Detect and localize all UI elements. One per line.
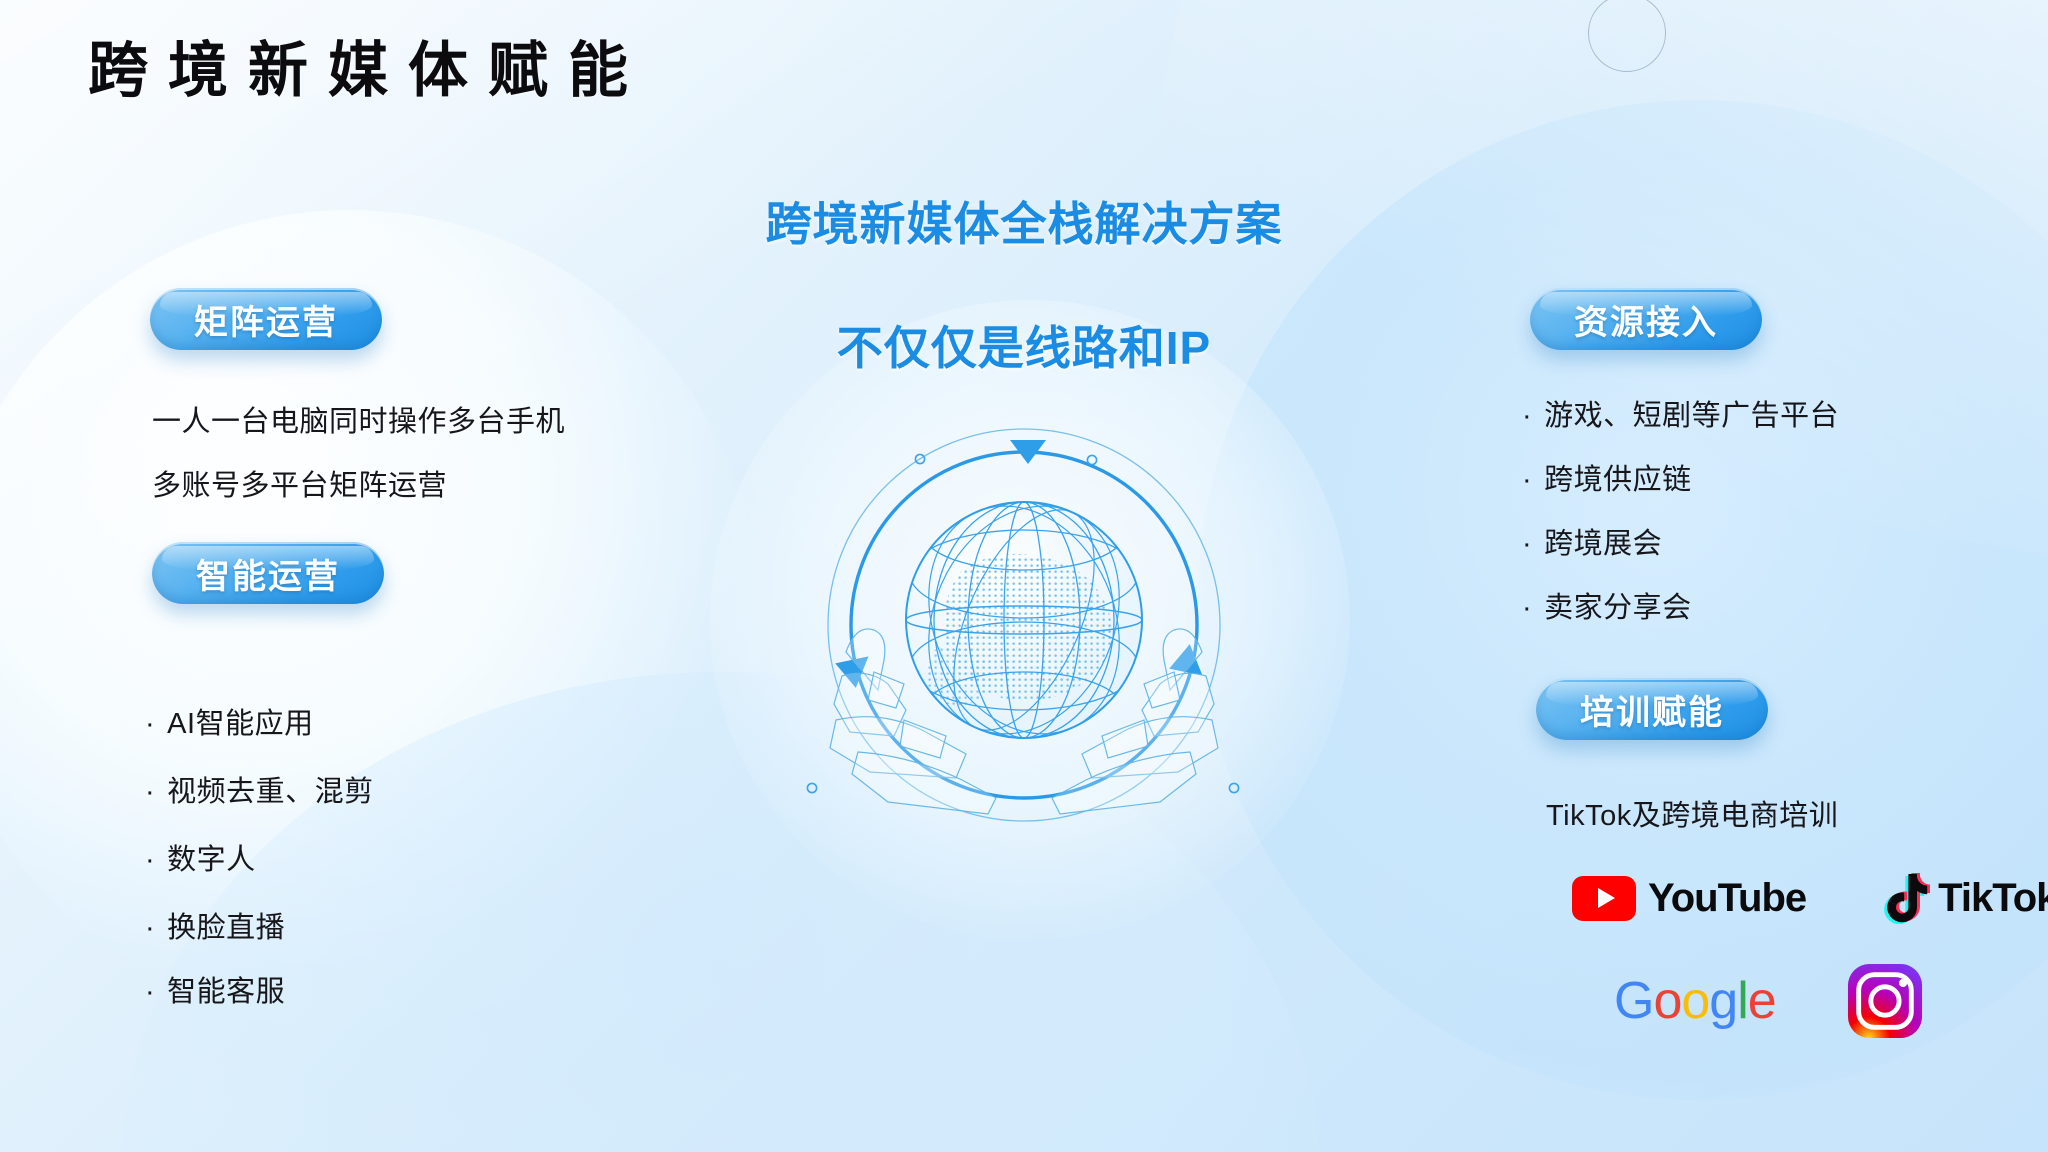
center-heading-primary: 跨境新媒体全栈解决方案	[0, 188, 2048, 254]
pill-intelligent-operations[interactable]: 智能运营	[152, 542, 384, 604]
bullet-dot-icon: ·	[145, 976, 155, 1009]
google-letter-3: g	[1709, 972, 1737, 1030]
left-section-1-item-4: ·智能客服	[145, 968, 285, 1010]
left-section-1-item-0: ·AI智能应用	[145, 700, 314, 742]
left-section-1-item-3: ·换脸直播	[145, 904, 285, 946]
google-letter-1: o	[1653, 972, 1681, 1030]
logo-row-bottom: Google	[1614, 962, 1924, 1040]
tiktok-wordmark: TikTok	[1938, 876, 2048, 921]
tiktok-logo[interactable]: TikTok	[1884, 872, 2048, 924]
right-section-1-item-0: TikTok及跨境电商培训	[1546, 792, 1838, 834]
right-section-0-item-3: ·卖家分享会	[1522, 584, 1692, 626]
bullet-dot-icon: ·	[1522, 400, 1532, 433]
pill-matrix-operations[interactable]: 矩阵运营	[150, 288, 382, 350]
bullet-dot-icon: ·	[145, 776, 155, 809]
bullet-text: 跨境展会	[1544, 528, 1662, 560]
bullet-dot-icon: ·	[1522, 592, 1532, 625]
youtube-logo[interactable]: YouTube	[1572, 876, 1806, 921]
bullet-text: 数字人	[167, 844, 256, 876]
left-section-0-item-0: 一人一台电脑同时操作多台手机	[152, 398, 565, 440]
youtube-play-icon	[1572, 876, 1636, 921]
bullet-dot-icon: ·	[145, 844, 155, 877]
pill-training-empowerment[interactable]: 培训赋能	[1536, 678, 1768, 740]
tiktok-note-icon	[1884, 872, 1930, 924]
right-section-0-item-2: ·跨境展会	[1522, 520, 1662, 562]
bullet-dot-icon: ·	[1522, 528, 1532, 561]
google-letter-2: o	[1681, 972, 1709, 1030]
bullet-dot-icon: ·	[1522, 464, 1532, 497]
bullet-text: 卖家分享会	[1544, 592, 1692, 624]
bullet-text: 视频去重、混剪	[167, 776, 374, 808]
google-logo[interactable]: Google	[1614, 975, 1776, 1027]
bullet-text: 换脸直播	[167, 912, 285, 944]
bullet-text: AI智能应用	[167, 708, 313, 740]
left-section-0-item-1: 多账号多平台矩阵运营	[152, 462, 447, 504]
left-section-1-item-1: ·视频去重、混剪	[145, 768, 374, 810]
right-section-0-item-0: ·游戏、短剧等广告平台	[1522, 392, 1839, 434]
background-blob-left	[0, 210, 760, 1030]
page-title: 跨境新媒体赋能	[88, 36, 648, 105]
bullet-dot-icon: ·	[145, 912, 155, 945]
youtube-wordmark: YouTube	[1648, 876, 1806, 921]
google-letter-5: e	[1748, 972, 1776, 1030]
google-letter-0: G	[1614, 972, 1653, 1030]
pill-resource-access[interactable]: 资源接入	[1530, 288, 1762, 350]
bullet-dot-icon: ·	[145, 708, 155, 741]
bullet-text: 游戏、短剧等广告平台	[1544, 400, 1839, 432]
bullet-text: 智能客服	[167, 976, 285, 1008]
bullet-text: 跨境供应链	[1544, 464, 1692, 496]
globe-in-hands-illustration	[784, 420, 1264, 840]
google-letter-4: l	[1737, 972, 1748, 1030]
logo-row-top: YouTube TikTok	[1572, 872, 2048, 924]
left-section-1-item-2: ·数字人	[145, 836, 256, 878]
right-section-0-item-1: ·跨境供应链	[1522, 456, 1692, 498]
decorative-circle-icon	[1588, 0, 1666, 72]
instagram-logo[interactable]	[1846, 962, 1924, 1040]
slide-root: 跨境新媒体赋能 跨境新媒体全栈解决方案 不仅仅是线路和IP	[0, 0, 2048, 1152]
